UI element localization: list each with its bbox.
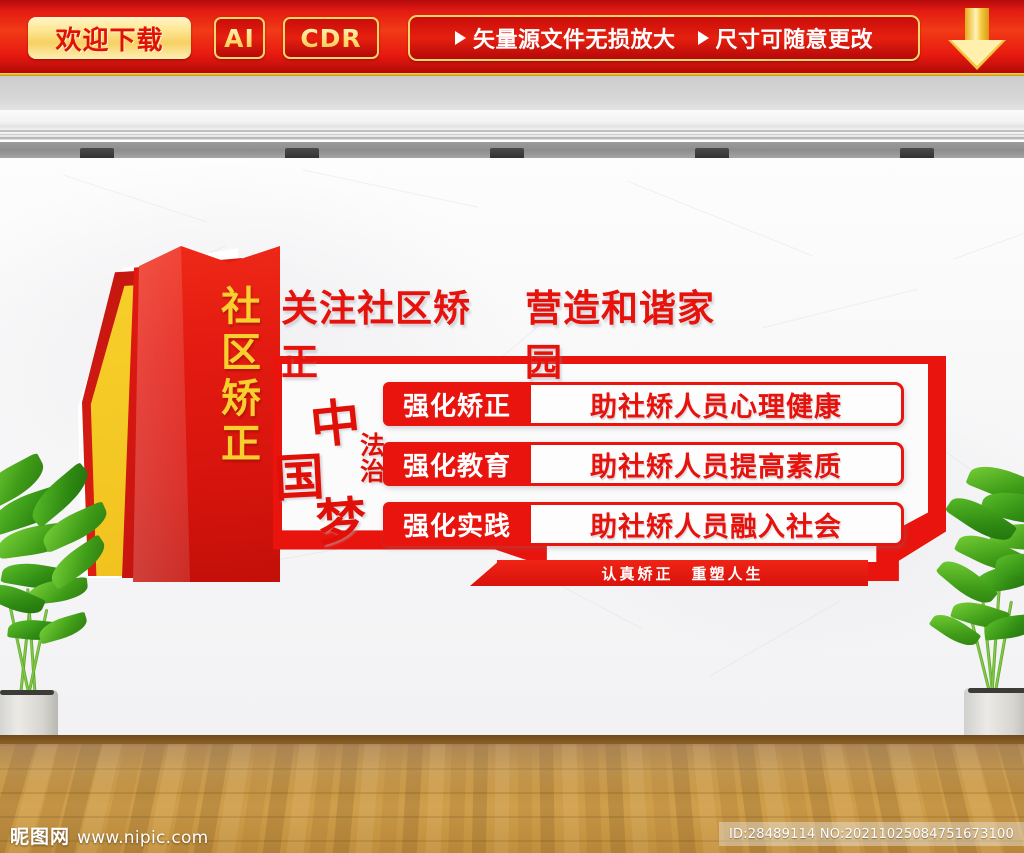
headline-part-2: 营造和谐家园 (525, 278, 751, 386)
feature-item-2: 尺寸可随意更改 (698, 22, 874, 54)
slogan-right-label-3: 助社矫人员融入社会 (590, 505, 842, 544)
site-url: www.nipic.com (77, 828, 209, 848)
slogan-left-label-2: 强化教育 (403, 446, 511, 483)
slogan-left-label-1: 强化矫正 (403, 386, 511, 423)
site-name: 昵图网 (10, 822, 70, 849)
vertical-title-text: 社 区 矫 正 (208, 286, 274, 466)
triangle-bullet-icon (698, 31, 709, 45)
feature-list: 矢量源文件无损放大 尺寸可随意更改 (408, 15, 920, 61)
welcome-download-label: 欢迎下载 (55, 20, 163, 57)
download-arrow-icon[interactable] (948, 8, 1006, 70)
slogan-row-left-1: 强化矫正 (383, 382, 531, 426)
format-tag-cdr-label: CDR (300, 24, 361, 53)
slogan-row: 强化实践 助社矫人员融入社会 (383, 502, 904, 546)
floor-skirting (0, 735, 1024, 744)
slogan-row: 强化矫正 助社矫人员心理健康 (383, 382, 904, 426)
format-tag-cdr[interactable]: CDR (283, 17, 379, 59)
format-tag-ai[interactable]: AI (214, 17, 265, 59)
marble-vein (627, 181, 813, 257)
vertical-title-char-1: 社 (221, 286, 261, 329)
screenshot-root: 欢迎下载 AI CDR 矢量源文件无损放大 尺寸可随意更改 (0, 0, 1024, 853)
slogan-row-right-3: 助社矫人员融入社会 (531, 502, 904, 546)
slogan-row-left-2: 强化教育 (383, 442, 531, 486)
marble-vein (710, 601, 840, 677)
asset-id-badge: ID:28489114 NO:20211025084751673100 (719, 822, 1024, 846)
sub-slogan-ribbon: 认真矫正 重塑人生 (497, 560, 868, 586)
marble-vein (302, 169, 478, 207)
vertical-title-char-3: 矫 (221, 378, 261, 421)
marble-vein (64, 175, 207, 222)
welcome-download-badge[interactable]: 欢迎下载 (28, 17, 191, 59)
slogan-right-label-2: 助社矫人员提高素质 (590, 445, 842, 484)
sub-slogan-label: 认真矫正 重塑人生 (601, 563, 763, 584)
slogan-row-list: 强化矫正 助社矫人员心理健康 强化教育 助社矫人员提高素质 强化实践 助社矫人员… (383, 382, 904, 562)
plant-right (916, 470, 1024, 748)
vertical-title-char-2: 区 (221, 332, 261, 375)
board-headline: 关注社区矫正 营造和谐家园 (281, 308, 751, 356)
plant-left (0, 468, 134, 748)
format-tag-ai-label: AI (224, 24, 255, 53)
site-watermark: 昵图网 www.nipic.com (10, 822, 209, 849)
chinese-dream-calligraphy: 中 国 梦 法 治 (276, 386, 388, 544)
calligraphy-char-meng: 梦 (314, 480, 369, 555)
headline-part-1: 关注社区矫正 (281, 278, 507, 386)
slogan-left-label-3: 强化实践 (403, 506, 511, 543)
calligraphy-char-zhi: 治 (360, 452, 385, 488)
promo-banner: 欢迎下载 AI CDR 矢量源文件无损放大 尺寸可随意更改 (0, 0, 1024, 76)
cornice-molding-lines (0, 130, 1024, 142)
slogan-row: 强化教育 助社矫人员提高素质 (383, 442, 904, 486)
feature-label-2: 尺寸可随意更改 (716, 22, 874, 54)
vertical-title-char-4: 正 (221, 423, 261, 466)
ceiling-slab (0, 76, 1024, 114)
feature-item-1: 矢量源文件无损放大 (455, 22, 676, 54)
asset-id-text: ID:28489114 NO:20211025084751673100 (729, 827, 1014, 842)
slogan-right-label-1: 助社矫人员心理健康 (590, 385, 842, 424)
slogan-row-right-2: 助社矫人员提高素质 (531, 442, 904, 486)
triangle-bullet-icon (455, 31, 466, 45)
marble-vein (953, 218, 1024, 260)
slogan-row-right-1: 助社矫人员心理健康 (531, 382, 904, 426)
feature-label-1: 矢量源文件无损放大 (473, 22, 676, 54)
slogan-row-left-3: 强化实践 (383, 502, 531, 546)
